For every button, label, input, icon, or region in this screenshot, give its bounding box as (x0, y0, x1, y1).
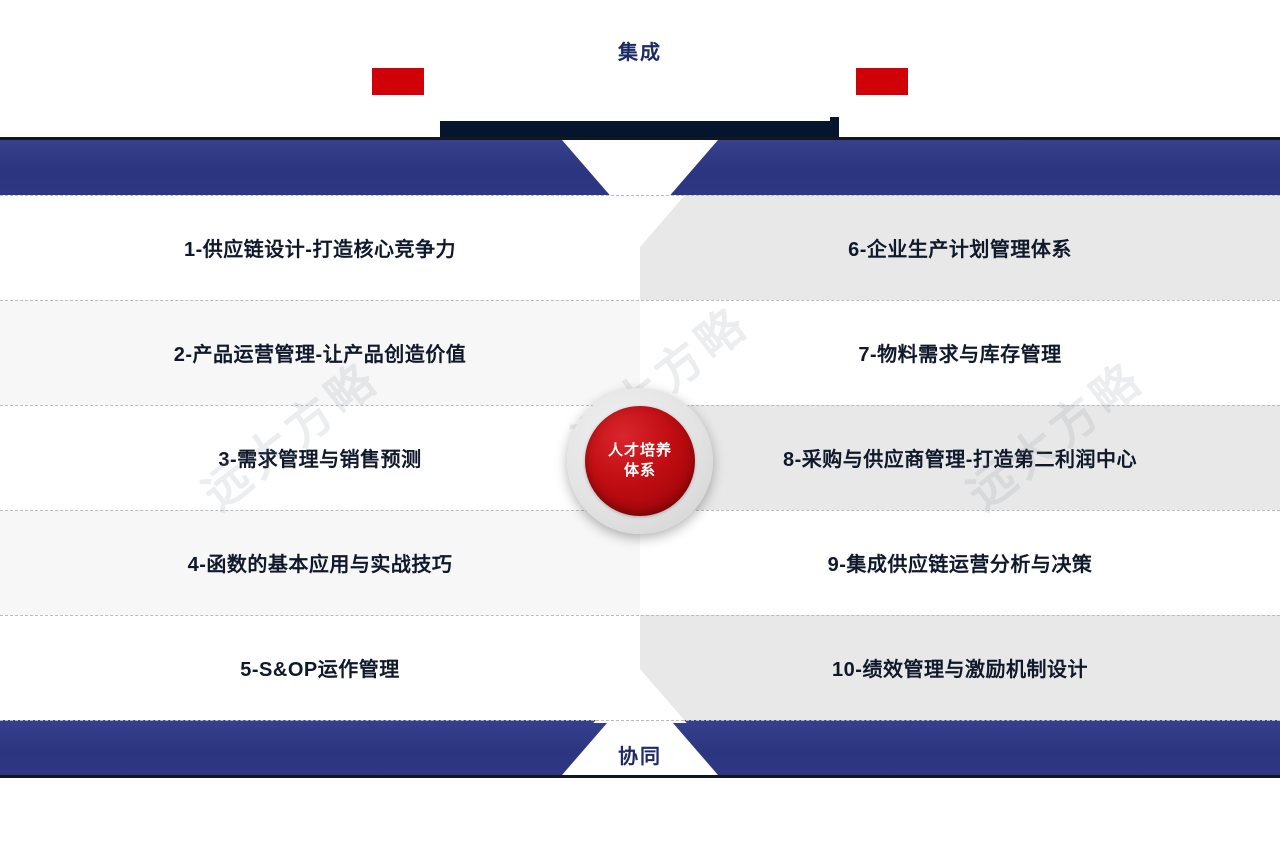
row-4-right-cell[interactable]: 9-集成供应链运营分析与决策 (640, 510, 1280, 615)
row-5-left-cell[interactable]: 5-S&OP运作管理 (0, 615, 640, 720)
row-separator (0, 195, 1280, 196)
title-accent-block-right (856, 68, 908, 95)
banner-integration-label: 集成 (562, 36, 718, 65)
title-accent-block-left (372, 68, 424, 95)
row-3-left-label: 3-需求管理与销售预测 (218, 443, 421, 472)
row-1-left-cell[interactable]: 1-供应链设计-打造核心竞争力 (0, 195, 640, 300)
row-2-right-label: 7-物料需求与库存管理 (858, 338, 1061, 367)
banner-notch-top-icon (562, 140, 718, 195)
row-5-right-cell[interactable]: 10-绩效管理与激励机制设计 (640, 615, 1280, 720)
row-3-right-cell[interactable]: 8-采购与供应商管理-打造第二利润中心 (640, 405, 1280, 510)
row-4-left-label: 4-函数的基本应用与实战技巧 (188, 548, 453, 577)
row-3-right-label: 8-采购与供应商管理-打造第二利润中心 (783, 443, 1137, 472)
row-3-left-cell[interactable]: 3-需求管理与销售预测 (0, 405, 640, 510)
frame-rule-bottom (0, 775, 1280, 778)
center-hub-line1: 人才培养 (608, 441, 672, 461)
row-separator (0, 615, 1280, 616)
row-4-right-label: 9-集成供应链运营分析与决策 (828, 548, 1093, 577)
banner-integration (0, 140, 1280, 195)
banner-collaboration-label: 协同 (562, 740, 718, 769)
table-row: 1-供应链设计-打造核心竞争力 6-企业生产计划管理体系 (0, 195, 1280, 300)
row-5-right-label: 10-绩效管理与激励机制设计 (832, 653, 1088, 682)
row-2-left-label: 2-产品运营管理-让产品创造价值 (174, 338, 466, 367)
center-hub-circle: 人才培养 体系 (585, 406, 695, 516)
row-2-right-cell[interactable]: 7-物料需求与库存管理 (640, 300, 1280, 405)
row-1-left-label: 1-供应链设计-打造核心竞争力 (184, 233, 456, 262)
center-hub-line2: 体系 (624, 461, 656, 481)
center-hub-node[interactable]: 人才培养 体系 (567, 388, 713, 534)
row-1-right-label: 6-企业生产计划管理体系 (848, 233, 1072, 262)
row-5-left-label: 5-S&OP运作管理 (240, 653, 399, 682)
row-separator (0, 720, 1280, 721)
row-2-left-cell[interactable]: 2-产品运营管理-让产品创造价值 (0, 300, 640, 405)
table-row: 5-S&OP运作管理 10-绩效管理与激励机制设计 (0, 615, 1280, 720)
row-4-left-cell[interactable]: 4-函数的基本应用与实战技巧 (0, 510, 640, 615)
row-1-right-cell[interactable]: 6-企业生产计划管理体系 (640, 195, 1280, 300)
row-separator (0, 300, 1280, 301)
